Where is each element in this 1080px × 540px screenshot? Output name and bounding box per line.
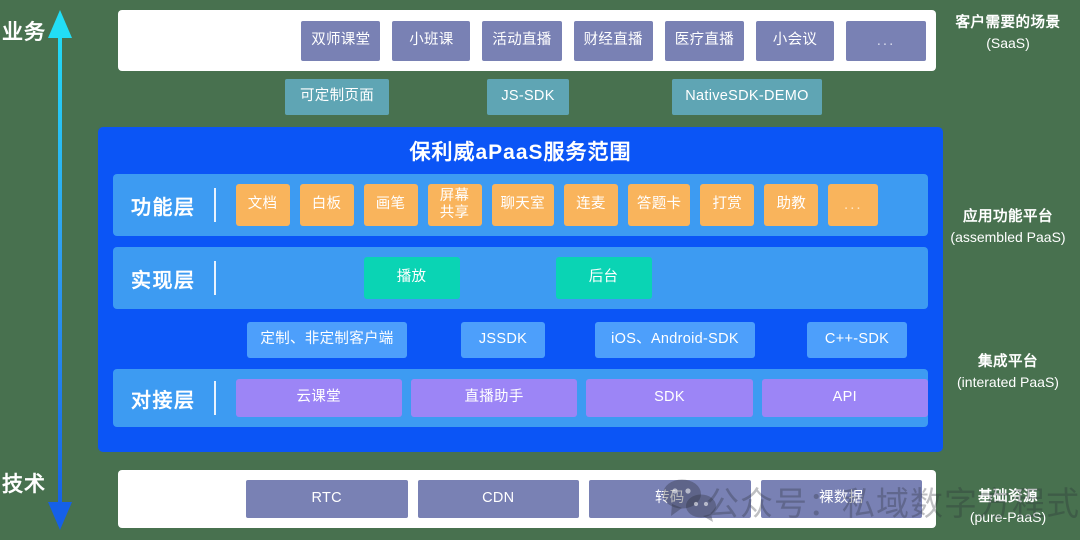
docking-chip-cloud-classroom[interactable]: 云课堂	[236, 379, 402, 417]
function-chip[interactable]: 白板	[300, 184, 354, 226]
sdk-chip-customizable-page[interactable]: 可定制页面	[285, 79, 389, 115]
side-label-integrated-paas: 集成平台 (interated PaaS)	[938, 352, 1078, 392]
side-label-assembled-en: (assembled PaaS)	[938, 228, 1078, 248]
side-label-pure-cn: 基础资源	[938, 487, 1078, 508]
row-title-function: 功能层	[131, 191, 196, 220]
side-label-assembled-cn: 应用功能平台	[938, 207, 1078, 228]
sdk-chip-native-sdk-demo[interactable]: NativeSDK-DEMO	[672, 79, 822, 115]
resource-chip-rtc[interactable]: RTC	[246, 480, 408, 518]
vertical-axis-arrow	[48, 8, 72, 532]
apaas-panel: 保利威aPaaS服务范围 功能层 文档 白板 画笔 屏幕 共享 聊天室 连麦 答…	[98, 127, 943, 452]
scenario-chip[interactable]: 小班课	[392, 21, 470, 61]
resource-chip-raw-data[interactable]: 裸数据	[761, 480, 923, 518]
docking-chip-sdk[interactable]: SDK	[586, 379, 752, 417]
function-chip[interactable]: 文档	[236, 184, 290, 226]
scenario-chip[interactable]: 小会议	[756, 21, 834, 61]
side-label-saas: 客户需要的场景 (SaaS)	[938, 13, 1078, 53]
docking-chip-api[interactable]: API	[762, 379, 928, 417]
row-divider	[214, 261, 216, 295]
side-label-pure-paas: 基础资源 (pure-PaaS)	[938, 487, 1078, 527]
row-implementation-layer: 实现层 播放 后台	[113, 247, 928, 309]
axis-label-business: 业务	[0, 16, 46, 46]
scenario-chip-more[interactable]: ...	[846, 21, 926, 61]
function-chip[interactable]: 连麦	[564, 184, 618, 226]
function-chip[interactable]: 打赏	[700, 184, 754, 226]
sdk-chip-js-sdk[interactable]: JS-SDK	[487, 79, 569, 115]
scenario-chip[interactable]: 双师课堂	[301, 21, 380, 61]
function-chip[interactable]: 答题卡	[628, 184, 690, 226]
resource-card: RTC CDN 转码 裸数据	[118, 470, 936, 528]
side-label-integrated-cn: 集成平台	[938, 352, 1078, 373]
side-label-assembled-paas: 应用功能平台 (assembled PaaS)	[938, 207, 1078, 247]
axis-label-technology: 技术	[0, 468, 46, 498]
scenario-chip[interactable]: 活动直播	[482, 21, 561, 61]
integration-chip-cpp-sdk[interactable]: C++-SDK	[807, 322, 907, 358]
function-chip[interactable]: 助教	[764, 184, 818, 226]
row-function-layer: 功能层 文档 白板 画笔 屏幕 共享 聊天室 连麦 答题卡 打赏 助教 ...	[113, 174, 928, 236]
row-title-docking: 对接层	[131, 384, 196, 413]
integration-strip: 定制、非定制客户端 JSSDK iOS、Android-SDK C++-SDK	[113, 322, 928, 358]
row-title-implementation: 实现层	[131, 264, 196, 293]
resource-chip-transcoding[interactable]: 转码	[589, 480, 751, 518]
scenario-chip[interactable]: 医疗直播	[665, 21, 744, 61]
side-label-saas-cn: 客户需要的场景	[938, 13, 1078, 34]
docking-chip-live-assistant[interactable]: 直播助手	[411, 379, 577, 417]
side-label-integrated-en: (interated PaaS)	[938, 373, 1078, 393]
function-chip[interactable]: 画笔	[364, 184, 418, 226]
integration-chip-ios-android-sdk[interactable]: iOS、Android-SDK	[595, 322, 755, 358]
function-chip[interactable]: 聊天室	[492, 184, 554, 226]
row-divider	[214, 188, 216, 222]
function-chip[interactable]: 屏幕 共享	[428, 184, 482, 226]
integration-chip-custom-client[interactable]: 定制、非定制客户端	[247, 322, 407, 358]
implementation-chip-backend[interactable]: 后台	[556, 257, 652, 299]
row-docking-layer: 对接层 云课堂 直播助手 SDK API	[113, 369, 928, 427]
apaas-panel-title: 保利威aPaaS服务范围	[113, 127, 928, 174]
side-label-pure-en: (pure-PaaS)	[938, 508, 1078, 528]
function-chip-more[interactable]: ...	[828, 184, 878, 226]
implementation-chip-playback[interactable]: 播放	[364, 257, 460, 299]
resource-chip-cdn[interactable]: CDN	[418, 480, 580, 518]
sdk-strip: 可定制页面 JS-SDK NativeSDK-DEMO	[118, 79, 936, 115]
scenario-chip[interactable]: 财经直播	[574, 21, 653, 61]
scenario-card: 双师课堂 小班课 活动直播 财经直播 医疗直播 小会议 ...	[118, 10, 936, 71]
side-label-saas-en: (SaaS)	[938, 34, 1078, 54]
integration-chip-jssdk[interactable]: JSSDK	[461, 322, 545, 358]
row-divider	[214, 381, 216, 415]
